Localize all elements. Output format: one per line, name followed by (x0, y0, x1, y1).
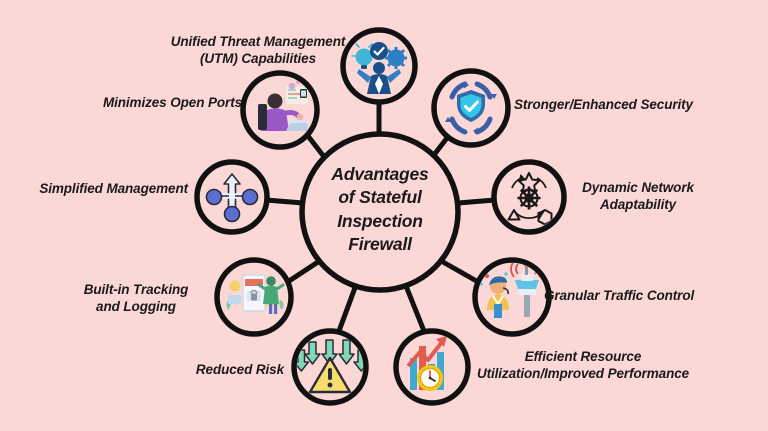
spoke-built-in-tracking (286, 262, 318, 283)
center-title-line-1: Advantages (300, 163, 460, 186)
spoke-simplified-management (266, 200, 303, 203)
center-title-line-3: Inspection (300, 210, 460, 233)
node-minimizes-open-ports[interactable] (243, 73, 317, 147)
label-granular-traffic-control: Granular Traffic Control (544, 287, 760, 304)
center-title-line-4: Firewall (300, 233, 460, 256)
label-utm: Unified Threat Management (UTM) Capabili… (168, 33, 348, 68)
node-simplified-management[interactable] (197, 162, 267, 232)
node-dynamic-network-adaptability[interactable] (494, 162, 564, 232)
node-utm[interactable] (343, 30, 415, 102)
spoke-efficient-resource (406, 286, 424, 331)
center-title: Advantages of Stateful Inspection Firewa… (300, 163, 460, 256)
label-minimizes-open-ports: Minimizes Open Ports (78, 94, 242, 111)
spoke-minimizes-open-ports (308, 136, 325, 158)
node-reduced-risk[interactable] (294, 331, 369, 403)
spoke-dynamic-network (458, 200, 495, 203)
label-efficient-resource-utilization: Efficient Resource Utilization/Improved … (452, 348, 714, 383)
label-built-in-tracking-and-logging: Built-in Tracking and Logging (62, 281, 210, 316)
label-stronger-enhanced-security: Stronger/Enhanced Security (514, 96, 744, 113)
label-reduced-risk: Reduced Risk (176, 361, 284, 378)
node-built-in-tracking-and-logging[interactable] (217, 260, 291, 334)
label-simplified-management: Simplified Management (2, 180, 188, 197)
infographic-canvas: Advantages of Stateful Inspection Firewa… (0, 0, 768, 431)
spoke-granular-traffic (443, 262, 480, 283)
label-dynamic-network-adaptability: Dynamic Network Adaptability (560, 179, 716, 214)
node-stronger-enhanced-security[interactable] (434, 71, 508, 145)
center-title-line-2: of Stateful (300, 186, 460, 209)
node-granular-traffic-control[interactable] (475, 260, 549, 334)
spoke-reduced-risk (339, 285, 356, 331)
